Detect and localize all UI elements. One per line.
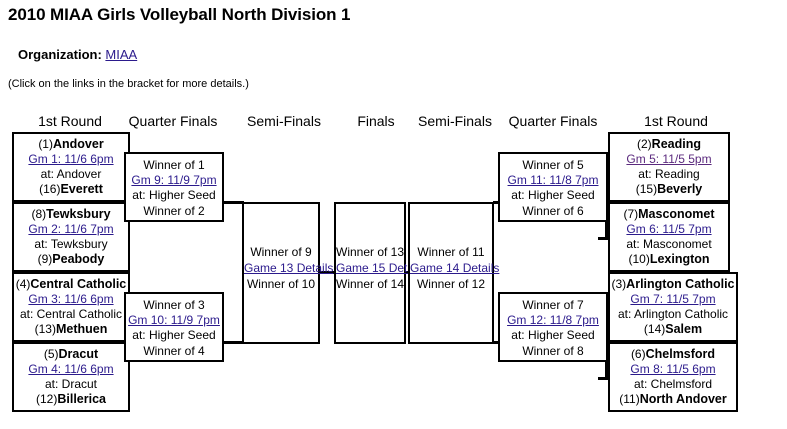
match-box-right-r1-2[interactable]: (7)Masconomet Gm 6: 11/5 7pm at: Mascono… — [608, 202, 730, 272]
winner-of-top: Winner of 11 — [410, 244, 492, 260]
seed-bottom: (12) — [36, 392, 57, 406]
team-bottom: (9)Peabody — [14, 252, 128, 267]
team-bottom: (13)Methuen — [14, 322, 128, 337]
team-top: (2)Reading — [610, 137, 728, 152]
seed-bottom: (9) — [38, 252, 53, 266]
winner-of-bottom: Winner of 12 — [410, 276, 492, 292]
match-box-left-r1-2[interactable]: (8)Tewksbury Gm 2: 11/6 7pm at: Tewksbur… — [12, 202, 130, 272]
team-name-top: Arlington Catholic — [626, 277, 734, 291]
team-name-top: Andover — [53, 137, 104, 151]
seed-bottom: (14) — [644, 322, 665, 336]
seed-top: (6) — [631, 347, 646, 361]
game-site: at: Masconomet — [610, 237, 728, 252]
winner-of-bottom: Winner of 4 — [126, 343, 222, 359]
seed-top: (5) — [44, 347, 59, 361]
game-link[interactable]: Gm 3: 11/6 6pm — [28, 292, 113, 306]
match-box-right-r1-3[interactable]: (3)Arlington Catholic Gm 7: 11/5 7pm at:… — [608, 272, 738, 342]
game-link[interactable]: Gm 8: 11/5 6pm — [630, 362, 715, 376]
game-site: at: Arlington Catholic — [610, 307, 736, 322]
winner-of-top: Winner of 13 — [336, 244, 404, 260]
team-name-top: Central Catholic — [30, 277, 126, 291]
game-site: at: Higher Seed — [126, 328, 222, 343]
team-name-top: Tewksbury — [46, 207, 110, 221]
team-top: (7)Masconomet — [610, 207, 728, 222]
winner-of-top: Winner of 1 — [126, 157, 222, 173]
team-name-bottom: Everett — [60, 182, 102, 196]
team-top: (8)Tewksbury — [14, 207, 128, 222]
page-title: 2010 MIAA Girls Volleyball North Divisio… — [8, 5, 350, 25]
organization-label: Organization: — [18, 47, 102, 62]
team-name-bottom: Beverly — [657, 182, 702, 196]
game-site: at: Tewksbury — [14, 237, 128, 252]
team-name-bottom: Methuen — [56, 322, 107, 336]
team-name-bottom: Billerica — [57, 392, 106, 406]
winner-of-top: Winner of 9 — [244, 244, 318, 260]
game-link[interactable]: Gm 2: 11/6 7pm — [28, 222, 113, 236]
connector-right-r1-2 — [598, 237, 608, 240]
game-link[interactable]: Gm 11: 11/8 7pm — [508, 173, 599, 187]
game-site: at: Central Catholic — [14, 307, 128, 322]
seed-top: (4) — [16, 277, 31, 291]
organization-link[interactable]: MIAA — [105, 47, 137, 62]
game-link[interactable]: Game 13 Details — [244, 261, 333, 275]
team-name-bottom: Salem — [665, 322, 702, 336]
round-header-right-semi-finals: Semi-Finals — [402, 113, 508, 129]
round-header-right-first-round: 1st Round — [612, 113, 740, 129]
winner-of-top: Winner of 3 — [126, 297, 222, 313]
organization-line: Organization: MIAA — [18, 47, 137, 62]
winner-of-bottom: Winner of 10 — [244, 276, 318, 292]
bracket-hint-text: (Click on the links in the bracket for m… — [8, 78, 249, 90]
match-box-final[interactable]: Winner of 13 Game 15 Details Winner of 1… — [334, 202, 406, 344]
round-header-left-semi-finals: Semi-Finals — [231, 113, 337, 129]
winner-of-bottom: Winner of 6 — [500, 203, 606, 219]
team-name-bottom: Lexington — [650, 252, 710, 266]
match-box-right-qf-2[interactable]: Winner of 7 Gm 12: 11/8 7pm at: Higher S… — [498, 292, 608, 362]
team-name-top: Chelmsford — [646, 347, 715, 361]
team-top: (5)Dracut — [14, 347, 128, 362]
match-box-left-r1-1[interactable]: (1)Andover Gm 1: 11/6 6pm at: Andover (1… — [12, 132, 130, 202]
match-box-left-qf-2[interactable]: Winner of 3 Gm 10: 11/9 7pm at: Higher S… — [124, 292, 224, 362]
seed-bottom: (11) — [619, 392, 639, 406]
match-box-left-r1-3[interactable]: (4)Central Catholic Gm 3: 11/6 6pm at: C… — [12, 272, 130, 342]
game-link[interactable]: Gm 9: 11/9 7pm — [131, 173, 216, 187]
winner-of-top: Winner of 5 — [500, 157, 606, 173]
game-link[interactable]: Gm 1: 11/6 6pm — [28, 152, 113, 166]
round-header-left-quarter-finals: Quarter Finals — [118, 113, 228, 129]
seed-bottom: (10) — [628, 252, 649, 266]
match-box-right-r1-4[interactable]: (6)Chelmsford Gm 8: 11/5 6pm at: Chelmsf… — [608, 342, 738, 412]
round-header-left-first-round: 1st Round — [10, 113, 130, 129]
seed-bottom: (13) — [35, 322, 56, 336]
team-top: (3)Arlington Catholic — [610, 277, 736, 292]
team-bottom: (12)Billerica — [14, 392, 128, 407]
game-site: at: Dracut — [14, 377, 128, 392]
match-box-left-r1-4[interactable]: (5)Dracut Gm 4: 11/6 6pm at: Dracut (12)… — [12, 342, 130, 412]
game-link[interactable]: Gm 5: 11/5 5pm — [626, 152, 711, 166]
team-name-top: Reading — [652, 137, 701, 151]
game-site: at: Higher Seed — [500, 188, 606, 203]
game-link[interactable]: Game 14 Details — [410, 261, 499, 275]
game-link[interactable]: Gm 4: 11/6 6pm — [28, 362, 113, 376]
team-top: (6)Chelmsford — [610, 347, 736, 362]
round-header-right-quarter-finals: Quarter Finals — [498, 113, 608, 129]
connector-left-qf2-out — [222, 341, 244, 344]
seed-bottom: (16) — [39, 182, 60, 196]
team-bottom: (10)Lexington — [610, 252, 728, 267]
match-box-right-semi-final[interactable]: Winner of 11 Game 14 Details Winner of 1… — [408, 202, 494, 344]
team-name-bottom: North Andover — [640, 392, 727, 406]
match-box-right-qf-1[interactable]: Winner of 5 Gm 11: 11/8 7pm at: Higher S… — [498, 152, 608, 222]
winner-of-top: Winner of 7 — [500, 297, 606, 313]
winner-of-bottom: Winner of 2 — [126, 203, 222, 219]
game-link[interactable]: Gm 12: 11/8 7pm — [507, 313, 599, 327]
team-name-top: Masconomet — [638, 207, 714, 221]
seed-top: (1) — [38, 137, 53, 151]
team-bottom: (11)North Andover — [610, 392, 736, 407]
team-top: (1)Andover — [14, 137, 128, 152]
game-site: at: Higher Seed — [126, 188, 222, 203]
game-link[interactable]: Gm 7: 11/5 7pm — [630, 292, 715, 306]
game-site: at: Higher Seed — [500, 328, 606, 343]
seed-bottom: (15) — [636, 182, 657, 196]
game-site: at: Andover — [14, 167, 128, 182]
team-bottom: (15)Beverly — [610, 182, 728, 197]
connector-right-r1-4 — [598, 377, 608, 380]
game-link[interactable]: Gm 6: 11/5 7pm — [626, 222, 711, 236]
game-site: at: Chelmsford — [610, 377, 736, 392]
winner-of-bottom: Winner of 14 — [336, 276, 404, 292]
match-box-left-qf-1[interactable]: Winner of 1 Gm 9: 11/9 7pm at: Higher Se… — [124, 152, 224, 222]
game-link[interactable]: Gm 10: 11/9 7pm — [128, 313, 220, 327]
winner-of-bottom: Winner of 8 — [500, 343, 606, 359]
team-top: (4)Central Catholic — [14, 277, 128, 292]
match-box-right-r1-1[interactable]: (2)Reading Gm 5: 11/5 5pm at: Reading (1… — [608, 132, 730, 202]
team-bottom: (16)Everett — [14, 182, 128, 197]
team-name-bottom: Peabody — [52, 252, 104, 266]
game-site: at: Reading — [610, 167, 728, 182]
team-bottom: (14)Salem — [610, 322, 736, 337]
connector-left-qf1-out — [222, 201, 244, 204]
seed-top: (2) — [637, 137, 652, 151]
seed-top: (8) — [31, 207, 46, 221]
team-name-top: Dracut — [59, 347, 99, 361]
seed-top: (3) — [612, 277, 627, 291]
seed-top: (7) — [623, 207, 638, 221]
match-box-left-semi-final[interactable]: Winner of 9 Game 13 Details Winner of 10 — [242, 202, 320, 344]
